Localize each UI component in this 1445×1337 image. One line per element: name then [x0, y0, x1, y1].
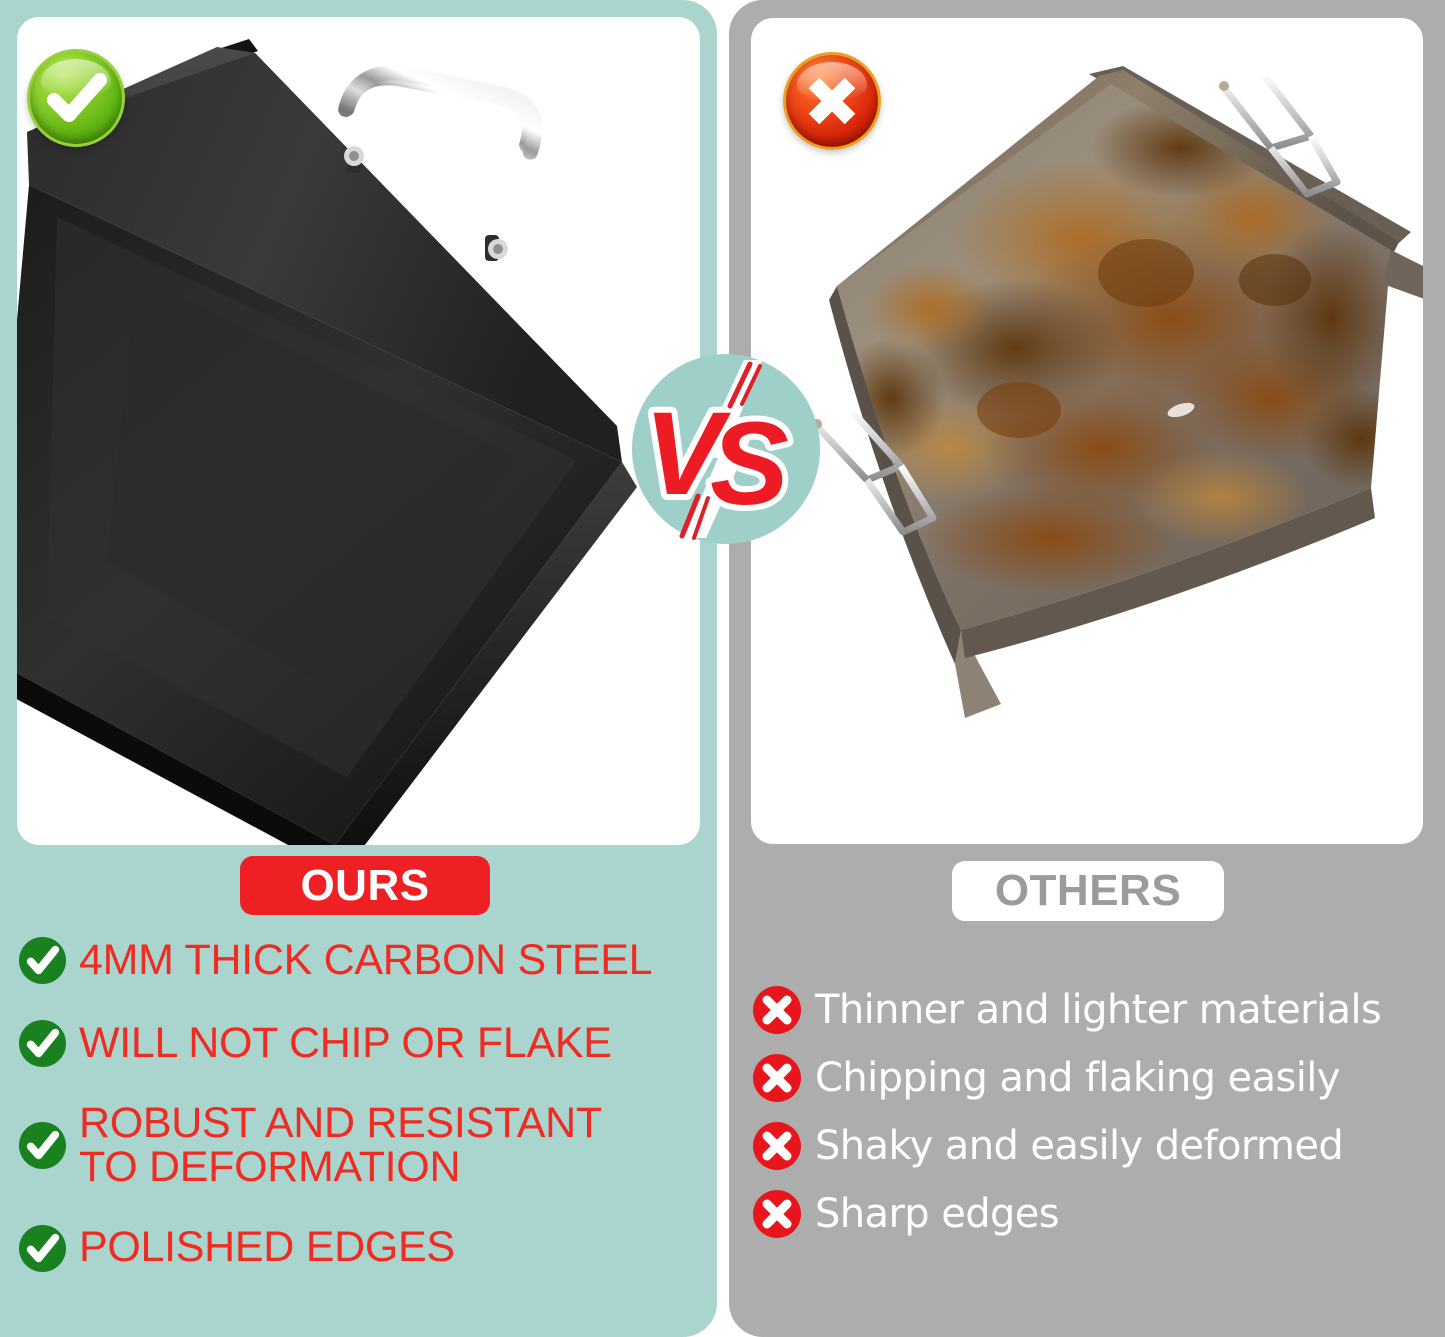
list-item-label: POLISHED EDGES	[79, 1226, 455, 1270]
comparison-infographic: OURS 4MM THICK CARBON STEEL	[0, 0, 1445, 1337]
red-cross-icon	[752, 985, 802, 1035]
others-title-badge: OTHERS	[952, 861, 1224, 921]
list-item: Thinner and lighter materials	[752, 985, 1432, 1035]
list-item: ROBUST AND RESISTANT TO DEFORMATION	[18, 1102, 708, 1190]
check-glyph	[30, 52, 122, 144]
ours-panel: OURS 4MM THICK CARBON STEEL	[0, 0, 717, 1337]
versus-badge-icon: V S V S	[632, 354, 820, 544]
list-item: Chipping and flaking easily	[752, 1053, 1432, 1103]
list-item-label: Chipping and flaking easily	[815, 1057, 1340, 1099]
list-item-label: ROBUST AND RESISTANT TO DEFORMATION	[79, 1102, 602, 1190]
list-item: POLISHED EDGES	[18, 1224, 708, 1273]
ours-title-badge: OURS	[240, 856, 490, 915]
list-item-label: Shaky and easily deformed	[815, 1125, 1343, 1167]
list-item: Shaky and easily deformed	[752, 1121, 1432, 1171]
list-item-label: 4MM THICK CARBON STEEL	[79, 939, 652, 983]
list-item: Sharp edges	[752, 1189, 1432, 1239]
cross-glyph	[786, 55, 878, 147]
green-check-icon	[18, 936, 67, 985]
red-cross-icon	[752, 1121, 802, 1171]
others-title-label: OTHERS	[995, 866, 1181, 916]
red-cross-icon	[752, 1053, 802, 1103]
list-item: 4MM THICK CARBON STEEL	[18, 936, 708, 985]
ours-title-label: OURS	[300, 861, 429, 911]
red-cross-icon	[752, 1189, 802, 1239]
svg-text:S: S	[710, 398, 789, 530]
green-check-icon	[18, 1019, 67, 1068]
vs-graphic: V S V S	[632, 354, 820, 544]
others-drawbacks-list: Thinner and lighter materials Chipping a…	[752, 985, 1432, 1257]
list-item-label: Thinner and lighter materials	[815, 989, 1381, 1031]
green-check-icon	[18, 1224, 67, 1273]
red-cross-circle-icon	[783, 52, 881, 150]
ours-benefits-list: 4MM THICK CARBON STEEL WILL NOT CHIP OR …	[18, 936, 708, 1307]
green-check-circle-icon	[27, 49, 125, 147]
green-check-icon	[18, 1121, 67, 1170]
list-item-label: Sharp edges	[815, 1193, 1059, 1235]
list-item: WILL NOT CHIP OR FLAKE	[18, 1019, 708, 1068]
list-item-label: WILL NOT CHIP OR FLAKE	[79, 1022, 612, 1066]
